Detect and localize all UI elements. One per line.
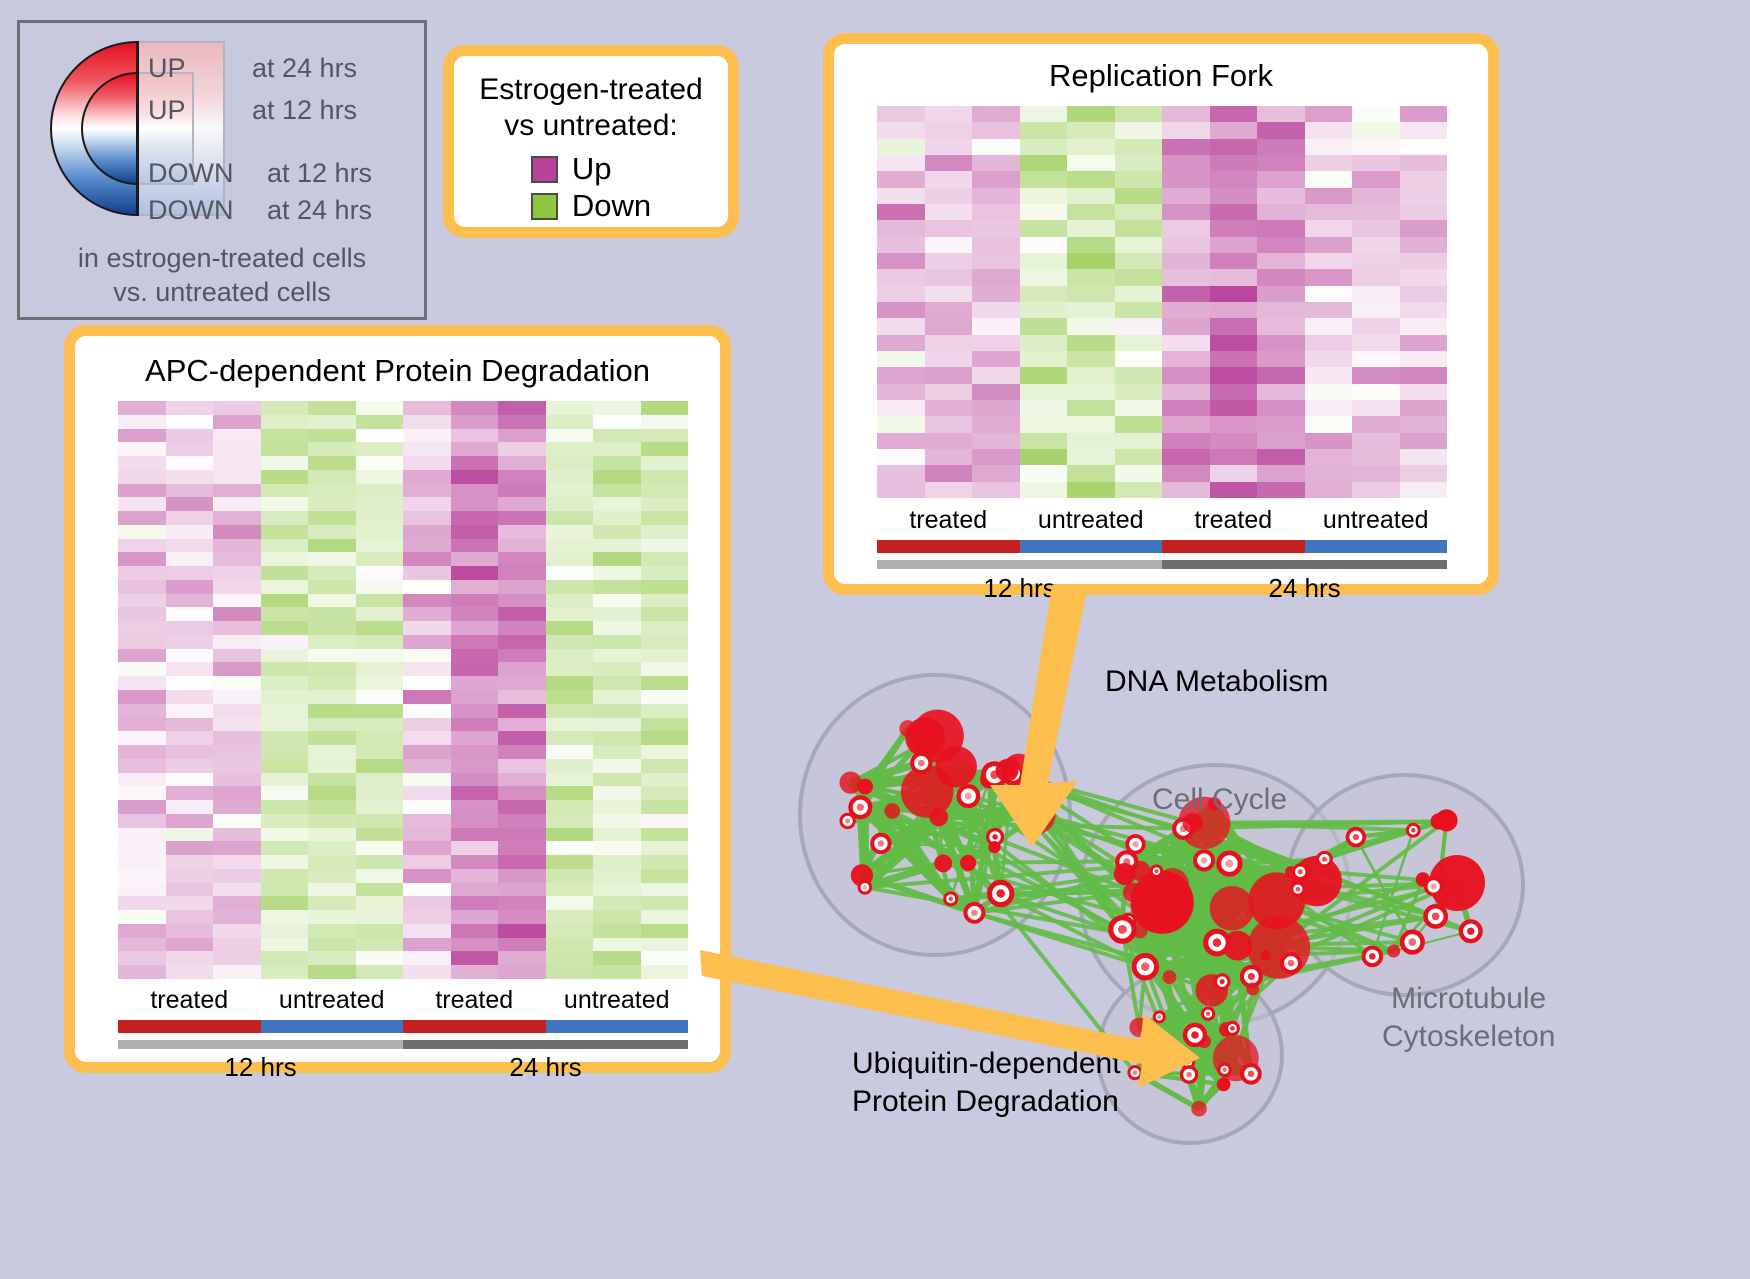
heatmap-cell	[213, 401, 261, 415]
heatmap-cell	[1352, 237, 1400, 253]
heatmap-cell	[166, 594, 214, 608]
heatmap-cell	[118, 704, 166, 718]
heatmap-cell	[166, 662, 214, 676]
heatmap-cell	[1400, 318, 1448, 334]
network-node[interactable]	[934, 854, 952, 872]
heatmap-cell	[1020, 286, 1068, 302]
heatmap-cell	[166, 869, 214, 883]
heatmap-cell	[213, 607, 261, 621]
heatmap-cell	[261, 470, 309, 484]
heatmap-cell	[1257, 171, 1305, 187]
heatmap-cell	[1210, 122, 1258, 138]
heatmap-cell	[1257, 139, 1305, 155]
heatmap-cell	[403, 718, 451, 732]
heatmap-cell	[1210, 351, 1258, 367]
heatmap-cell	[546, 718, 594, 732]
heatmap-cell	[641, 924, 689, 938]
heatmap-cell	[261, 814, 309, 828]
down-label: Down	[572, 188, 651, 224]
heatmap-cell	[166, 841, 214, 855]
heatmap-cell	[1400, 335, 1448, 351]
heatmap-cell	[877, 416, 925, 432]
heatmap-cell	[1257, 188, 1305, 204]
heatmap-cell	[877, 449, 925, 465]
heatmap-cell	[213, 718, 261, 732]
heatmap-cell	[546, 869, 594, 883]
heatmap-cell	[1305, 269, 1353, 285]
heatmap-cell	[213, 662, 261, 676]
heatmap-cell	[1115, 237, 1163, 253]
network-node[interactable]	[1431, 813, 1447, 829]
heatmap-cell	[1162, 384, 1210, 400]
heatmap-cell	[1067, 433, 1115, 449]
heatmap-cell	[1115, 171, 1163, 187]
heatmap-cell	[1400, 253, 1448, 269]
heatmap-cell	[308, 951, 356, 965]
heatmap-cell	[925, 351, 973, 367]
heatmap-cell	[593, 484, 641, 498]
heatmap-cell	[498, 566, 546, 580]
heatmap-cell	[213, 580, 261, 594]
heatmap-cell	[1305, 433, 1353, 449]
heatmap-cell	[1400, 155, 1448, 171]
heatmap-cell	[1352, 416, 1400, 432]
heatmap-cell	[593, 401, 641, 415]
network-node[interactable]	[1387, 945, 1400, 958]
heatmap-cell	[1305, 188, 1353, 204]
heatmap-cell	[641, 828, 689, 842]
heatmap-cell	[593, 621, 641, 635]
heatmap-cell	[1067, 335, 1115, 351]
heatmap-cell	[498, 401, 546, 415]
heatmap-cell	[451, 401, 499, 415]
heatmap-cell	[546, 401, 594, 415]
network-node[interactable]	[884, 803, 900, 819]
heatmap-cell	[498, 841, 546, 855]
heatmap-cell	[261, 594, 309, 608]
heatmap-cell	[403, 759, 451, 773]
heatmap-cell	[451, 566, 499, 580]
heatmap-cell	[641, 841, 689, 855]
heatmap-cell	[1115, 449, 1163, 465]
heatmap-cell	[593, 718, 641, 732]
heatmap-cell	[1210, 269, 1258, 285]
heatmap-cell	[261, 869, 309, 883]
heatmap-cell	[213, 896, 261, 910]
heatmap-cell	[451, 429, 499, 443]
heatmap-cell	[1210, 416, 1258, 432]
heatmap-cell	[1115, 433, 1163, 449]
heatmap-cell	[118, 965, 166, 979]
network-node[interactable]	[1191, 1101, 1207, 1117]
network-node[interactable]	[1261, 950, 1271, 960]
heatmap-cell	[403, 401, 451, 415]
heatmap-cell	[451, 676, 499, 690]
heatmap-cell	[166, 855, 214, 869]
heatmap-cell	[118, 869, 166, 883]
heatmap-cell	[451, 759, 499, 773]
heatmap-cell	[166, 401, 214, 415]
heatmap-cell	[308, 511, 356, 525]
heatmap-cell	[1352, 335, 1400, 351]
heatmap-cell	[356, 773, 404, 787]
heatmap-cell	[403, 828, 451, 842]
heatmap-cell	[261, 745, 309, 759]
heatmap-cell	[972, 351, 1020, 367]
heatmap-cell	[593, 470, 641, 484]
heatmap-cell	[356, 910, 404, 924]
heatmap-cell	[1067, 204, 1115, 220]
heatmap-cell	[1115, 384, 1163, 400]
heatmap-cell	[641, 731, 689, 745]
heatmap-cell	[1210, 155, 1258, 171]
heatmap-cell	[403, 429, 451, 443]
heatmap-cell	[1020, 335, 1068, 351]
heatmap-cell	[118, 429, 166, 443]
heatmap-cell	[261, 924, 309, 938]
heatmap-cell	[213, 621, 261, 635]
heatmap-cell	[1305, 220, 1353, 236]
heatmap-cell	[403, 662, 451, 676]
heatmap-cell	[118, 910, 166, 924]
heatmap-cell	[546, 690, 594, 704]
heatmap-cell	[1257, 302, 1305, 318]
heatmap-cell	[1162, 237, 1210, 253]
heatmap-cell	[972, 384, 1020, 400]
heatmap-cell	[1352, 139, 1400, 155]
heatmap-cell	[593, 773, 641, 787]
heatmap-cell	[641, 566, 689, 580]
heatmap-cell	[308, 896, 356, 910]
heatmap-cell	[877, 237, 925, 253]
heatmap-cell	[356, 841, 404, 855]
heatmap-cell	[546, 621, 594, 635]
heatmap-cell	[1067, 139, 1115, 155]
heatmap-cell	[356, 896, 404, 910]
replication-fork-time-bar	[877, 560, 1447, 569]
heatmap-cell	[261, 883, 309, 897]
heatmap-cell	[877, 171, 925, 187]
heatmap-cell	[261, 442, 309, 456]
heatmap-cell	[356, 539, 404, 553]
heatmap-cell	[166, 484, 214, 498]
network-node-core	[1467, 928, 1474, 935]
heatmap-cell	[166, 896, 214, 910]
heatmap-cell	[546, 883, 594, 897]
heatmap-cell	[593, 731, 641, 745]
heatmap-cell	[593, 938, 641, 952]
heatmap-cell	[451, 511, 499, 525]
heatmap-cell	[641, 470, 689, 484]
heatmap-cell	[1067, 106, 1115, 122]
heatmap-cell	[213, 456, 261, 470]
heatmap-cell	[261, 401, 309, 415]
network-node-core	[878, 840, 885, 847]
heatmap-cell	[1257, 155, 1305, 171]
heatmap-cell	[1257, 367, 1305, 383]
heatmap-cell	[166, 924, 214, 938]
heatmap-cell	[593, 511, 641, 525]
heatmap-cell	[403, 883, 451, 897]
heatmap-cell	[1020, 416, 1068, 432]
heatmap-cell	[877, 106, 925, 122]
heatmap-cell	[498, 869, 546, 883]
replication-fork-title: Replication Fork	[834, 58, 1488, 94]
heatmap-cell	[403, 497, 451, 511]
heatmap-cell	[261, 525, 309, 539]
heatmap-cell	[403, 704, 451, 718]
heatmap-cell	[356, 759, 404, 773]
heatmap-cell	[1162, 269, 1210, 285]
arrow-replication-fork-to-network	[960, 585, 1140, 855]
heatmap-cell	[308, 814, 356, 828]
heatmap-cell	[498, 456, 546, 470]
heatmap-cell	[308, 442, 356, 456]
heatmap-cell	[972, 302, 1020, 318]
heatmap-cell	[1305, 318, 1353, 334]
heatmap-cell	[403, 869, 451, 883]
network-node-core	[857, 803, 864, 810]
heatmap-cell	[925, 171, 973, 187]
heatmap-cell	[261, 580, 309, 594]
network-node-core	[1353, 834, 1359, 840]
heatmap-cell	[1020, 351, 1068, 367]
heatmap-cell	[593, 924, 641, 938]
network-node[interactable]	[960, 855, 976, 871]
heatmap-cell	[403, 773, 451, 787]
heatmap-cell	[118, 511, 166, 525]
time-bar-segment-24-hrs	[1162, 560, 1447, 569]
heatmap-cell	[972, 465, 1020, 481]
heatmap-cell	[308, 594, 356, 608]
heatmap-cell	[261, 429, 309, 443]
heatmap-cell	[593, 607, 641, 621]
heatmap-cell	[546, 965, 594, 979]
network-node-core	[971, 909, 978, 916]
heatmap-cell	[213, 869, 261, 883]
heatmap-cell	[403, 484, 451, 498]
heatmap-cell	[1115, 367, 1163, 383]
heatmap-cell	[403, 552, 451, 566]
rf-cond-0: treated	[877, 506, 1020, 535]
network-node[interactable]	[929, 808, 948, 827]
heatmap-cell	[213, 539, 261, 553]
heatmap-cell	[356, 745, 404, 759]
network-node[interactable]	[1114, 863, 1136, 885]
heatmap-cell	[1210, 220, 1258, 236]
heatmap-cell	[118, 649, 166, 663]
heatmap-cell	[356, 855, 404, 869]
heatmap-cell	[972, 367, 1020, 383]
heatmap-cell	[641, 456, 689, 470]
apc-heatmap	[118, 401, 688, 979]
network-node[interactable]	[899, 720, 916, 737]
heatmap-cell	[308, 965, 356, 979]
heatmap-cell	[925, 269, 973, 285]
network-node[interactable]	[1210, 886, 1254, 930]
heatmap-cell	[972, 155, 1020, 171]
heatmap-cell	[925, 122, 973, 138]
heatmap-cell	[972, 433, 1020, 449]
heatmap-cell	[451, 883, 499, 897]
heatmap-cell	[1210, 400, 1258, 416]
heatmap-cell	[213, 855, 261, 869]
heatmap-cell	[498, 662, 546, 676]
heatmap-cell	[498, 883, 546, 897]
heatmap-cell	[308, 635, 356, 649]
condition-bar-segment-untreated	[261, 1020, 404, 1033]
heatmap-cell	[1162, 253, 1210, 269]
heatmap-cell	[1067, 188, 1115, 204]
heatmap-cell	[1020, 367, 1068, 383]
heatmap-cell	[1115, 269, 1163, 285]
heatmap-cell	[546, 938, 594, 952]
heatmap-cell	[546, 456, 594, 470]
heatmap-cell	[925, 188, 973, 204]
heatmap-cell	[546, 841, 594, 855]
network-node-core	[1288, 960, 1295, 967]
heatmap-cell	[356, 415, 404, 429]
heatmap-cell	[641, 745, 689, 759]
heatmap-cell	[356, 800, 404, 814]
heatmap-cell	[546, 745, 594, 759]
heatmap-cell	[1162, 171, 1210, 187]
heatmap-cell	[593, 855, 641, 869]
heatmap-cell	[1352, 188, 1400, 204]
heatmap-cell	[972, 139, 1020, 155]
heatmap-cell	[641, 429, 689, 443]
network-node[interactable]	[1292, 856, 1342, 906]
heatmap-cell	[925, 482, 973, 498]
heatmap-cell	[546, 429, 594, 443]
heatmap-cell	[1115, 318, 1163, 334]
heatmap-cell	[1020, 433, 1068, 449]
heatmap-cell	[641, 635, 689, 649]
heatmap-cell	[546, 649, 594, 663]
heatmap-cell	[1162, 155, 1210, 171]
heatmap-cell	[118, 566, 166, 580]
heatmap-cell	[403, 525, 451, 539]
heatmap-cell	[1400, 220, 1448, 236]
heatmap-cell	[1400, 482, 1448, 498]
apc-time-labels: 12 hrs 24 hrs	[118, 1052, 688, 1083]
heatmap-cell	[403, 896, 451, 910]
heatmap-cell	[877, 220, 925, 236]
heatmap-cell	[356, 552, 404, 566]
heatmap-cell	[356, 511, 404, 525]
heatmap-cell	[1305, 416, 1353, 432]
up-swatch-icon	[531, 156, 558, 183]
heatmap-cell	[925, 204, 973, 220]
heatmap-cell	[641, 415, 689, 429]
heatmap-cell	[403, 470, 451, 484]
heatmap-cell	[308, 497, 356, 511]
heatmap-cell	[261, 773, 309, 787]
heatmap-cell	[451, 525, 499, 539]
heatmap-cell	[1257, 400, 1305, 416]
heatmap-cell	[593, 869, 641, 883]
heatmap-cell	[972, 269, 1020, 285]
heatmap-cell	[403, 924, 451, 938]
heatmap-cell	[1210, 482, 1258, 498]
wheel-row-down-24-state: DOWN	[148, 195, 233, 226]
network-node[interactable]	[1123, 883, 1142, 902]
heatmap-cell	[498, 828, 546, 842]
heatmap-cell	[1162, 433, 1210, 449]
heatmap-cell	[498, 484, 546, 498]
heatmap-cell	[1305, 155, 1353, 171]
heatmap-cell	[972, 220, 1020, 236]
heatmap-cell	[641, 497, 689, 511]
heatmap-cell	[261, 841, 309, 855]
heatmap-cell	[877, 269, 925, 285]
legend-item-up: Up	[531, 151, 651, 187]
heatmap-cell	[308, 924, 356, 938]
heatmap-cell	[1020, 482, 1068, 498]
heatmap-cell	[451, 607, 499, 621]
heatmap-cell	[546, 759, 594, 773]
heatmap-cell	[261, 690, 309, 704]
heatmap-cell	[118, 594, 166, 608]
heatmap-cell	[166, 470, 214, 484]
heatmap-cell	[546, 910, 594, 924]
time-bar-segment-12-hrs	[877, 560, 1162, 569]
heatmap-cell	[1067, 269, 1115, 285]
heatmap-cell	[641, 800, 689, 814]
heatmap-cell	[498, 938, 546, 952]
heatmap-cell	[166, 415, 214, 429]
network-node[interactable]	[857, 779, 873, 795]
time-bar-segment-24-hrs	[403, 1040, 688, 1049]
heatmap-cell	[166, 883, 214, 897]
heatmap-cell	[451, 456, 499, 470]
heatmap-cell	[1020, 237, 1068, 253]
heatmap-cell	[308, 759, 356, 773]
network-node[interactable]	[901, 765, 954, 818]
heatmap-cell	[1400, 204, 1448, 220]
heatmap-cell	[1305, 400, 1353, 416]
heatmap-cell	[1257, 269, 1305, 285]
heatmap-cell	[1400, 139, 1448, 155]
heatmap-cell	[1400, 400, 1448, 416]
heatmap-cell	[118, 938, 166, 952]
heatmap-cell	[356, 951, 404, 965]
wheel-caption-line1: in estrogen-treated cells	[20, 241, 424, 275]
heatmap-cell	[1020, 106, 1068, 122]
heatmap-cell	[498, 800, 546, 814]
heatmap-cell	[1210, 302, 1258, 318]
heatmap-cell	[1162, 367, 1210, 383]
heatmap-cell	[1162, 449, 1210, 465]
heatmap-cell	[1162, 351, 1210, 367]
heatmap-cell	[546, 525, 594, 539]
heatmap-cell	[451, 855, 499, 869]
heatmap-cell	[593, 649, 641, 663]
heatmap-cell	[166, 580, 214, 594]
heatmap-cell	[1020, 269, 1068, 285]
heatmap-cell	[213, 676, 261, 690]
heatmap-cell	[593, 676, 641, 690]
heatmap-cell	[308, 621, 356, 635]
heatmap-cell	[261, 704, 309, 718]
apc-panel-title: APC-dependent Protein Degradation	[75, 353, 720, 389]
heatmap-cell	[451, 951, 499, 965]
network-node-core	[1411, 828, 1415, 832]
heatmap-cell	[972, 171, 1020, 187]
heatmap-cell	[1210, 449, 1258, 465]
heatmap-cell	[593, 704, 641, 718]
heatmap-cell	[356, 869, 404, 883]
